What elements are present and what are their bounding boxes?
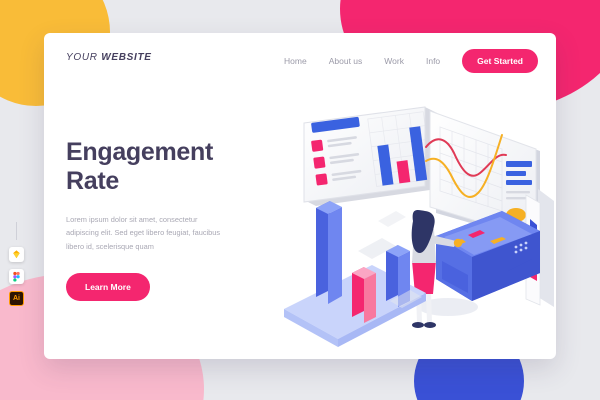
hero-copy: Engagement Rate Lorem ipsum dolor sit am…	[66, 138, 256, 301]
illustrator-icon-label: Ai	[13, 295, 20, 302]
illustrator-icon[interactable]: Ai	[9, 291, 24, 306]
hero-illustration	[240, 61, 556, 359]
title-line-1: Engagement	[66, 138, 213, 166]
site-logo[interactable]: YOUR WEBSITE	[66, 52, 152, 63]
control-console	[418, 211, 540, 316]
title-line-2: Rate	[66, 167, 119, 195]
foreground-bar-chart	[284, 201, 426, 347]
list-bar-screen	[304, 107, 437, 206]
logo-light-text: YOUR	[66, 52, 98, 63]
sketch-icon[interactable]	[9, 247, 24, 262]
figma-icon[interactable]	[9, 269, 24, 284]
hero-card: YOUR WEBSITE Home About us Work Info Get…	[44, 33, 556, 359]
rail-divider	[16, 222, 17, 240]
hero-description: Lorem ipsum dolor sit amet, consectetur …	[66, 213, 226, 254]
learn-more-button[interactable]: Learn More	[66, 273, 150, 301]
logo-bold-text: WEBSITE	[101, 52, 151, 63]
page-title: Engagement Rate	[66, 138, 256, 197]
app-icon-rail: Ai	[9, 222, 24, 306]
